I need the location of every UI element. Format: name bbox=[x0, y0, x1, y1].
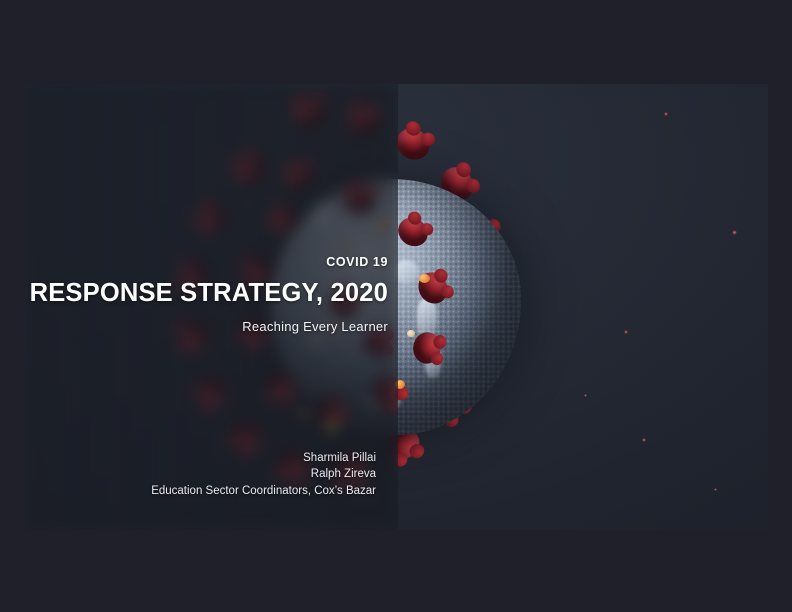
particle-dot bbox=[664, 112, 668, 116]
page-title: RESPONSE STRATEGY, 2020 bbox=[24, 280, 388, 307]
subtitle-label: Reaching Every Learner bbox=[24, 320, 388, 333]
particle-dot bbox=[732, 230, 737, 235]
credit-line: Sharmila Pillai bbox=[24, 450, 376, 466]
title-block: COVID 19 RESPONSE STRATEGY, 2020 Reachin… bbox=[24, 256, 388, 333]
particle-dot bbox=[624, 330, 628, 334]
title-slide: COVID 19 RESPONSE STRATEGY, 2020 Reachin… bbox=[24, 84, 768, 530]
eyebrow-label: COVID 19 bbox=[24, 256, 388, 269]
particle-dot bbox=[642, 438, 646, 442]
particle-dot bbox=[714, 488, 717, 491]
credits-block: Sharmila Pillai Ralph Zireva Education S… bbox=[24, 450, 376, 499]
particle-dot bbox=[584, 394, 587, 397]
credit-line: Ralph Zireva bbox=[24, 466, 376, 482]
credit-line: Education Sector Coordinators, Cox’s Baz… bbox=[24, 483, 376, 499]
